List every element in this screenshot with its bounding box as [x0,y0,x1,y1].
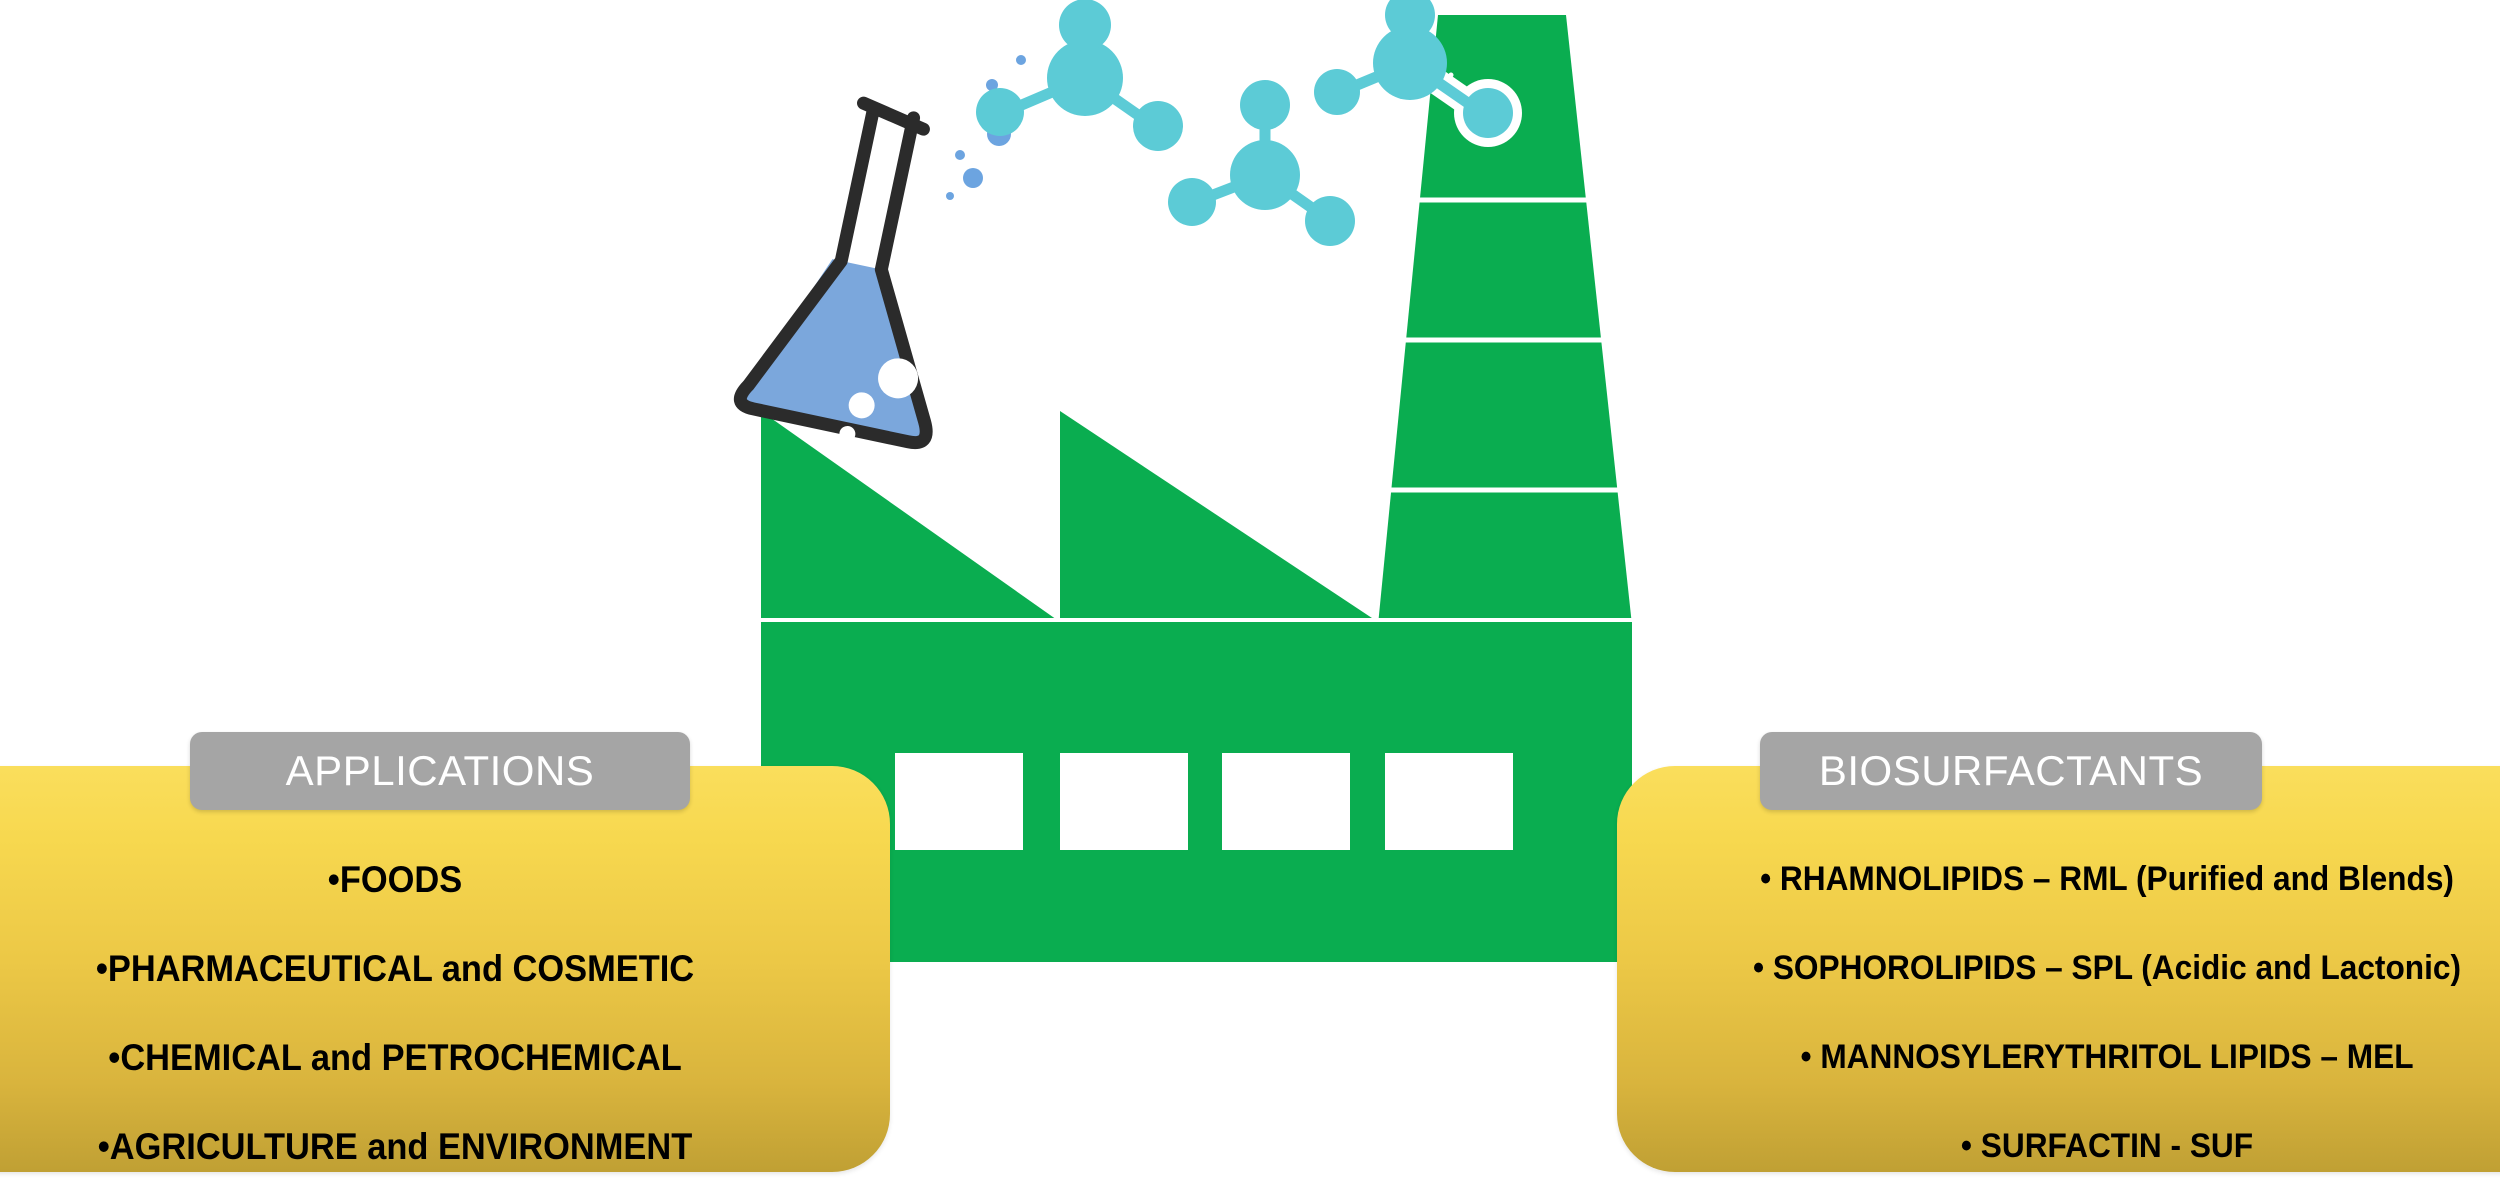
factory-window [1060,753,1188,850]
biosurfactants-banner-title: BIOSURFACTANTS [1819,747,2203,795]
factory-window [1222,753,1350,850]
list-item: •PHARMACEUTICAL and COSMETIC [0,947,855,991]
applications-banner-title: APPLICATIONS [286,747,595,795]
list-item: •AGRICULTURE and ENVIRONMENT [0,1125,855,1169]
list-item: • SOPHOROLIPIDS – SPL (Acidic and Lacton… [1651,947,2500,989]
biosurfactants-list: • RHAMNOLIPIDS – RML (Purified and Blend… [1617,858,2500,1182]
list-item: • SURFACTIN - SUF [1651,1125,2500,1167]
factory-window [895,753,1023,850]
molecule-left [976,0,1183,151]
list-item: • MANNOSYLERYTHRITOL LIPIDS – MEL [1651,1036,2500,1078]
erlenmeyer-flask [733,91,991,474]
factory-window [1385,753,1513,850]
flask-bubble [823,444,835,456]
applications-banner: APPLICATIONS [190,732,690,810]
applications-panel: •FOODS •PHARMACEUTICAL and COSMETIC •CHE… [0,766,890,1172]
biosurfactants-panel: • RHAMNOLIPIDS – RML (Purified and Blend… [1617,766,2500,1172]
factory-sawtooth-roof [761,411,1378,622]
applications-list: •FOODS •PHARMACEUTICAL and COSMETIC •CHE… [0,858,890,1182]
list-item: •CHEMICAL and PETROCHEMICAL [0,1036,855,1080]
infographic-canvas: •FOODS •PHARMACEUTICAL and COSMETIC •CHE… [0,0,2500,1182]
biosurfactants-banner: BIOSURFACTANTS [1760,732,2262,810]
list-item: •FOODS [0,858,855,902]
list-item: • RHAMNOLIPIDS – RML (Purified and Blend… [1651,858,2500,900]
